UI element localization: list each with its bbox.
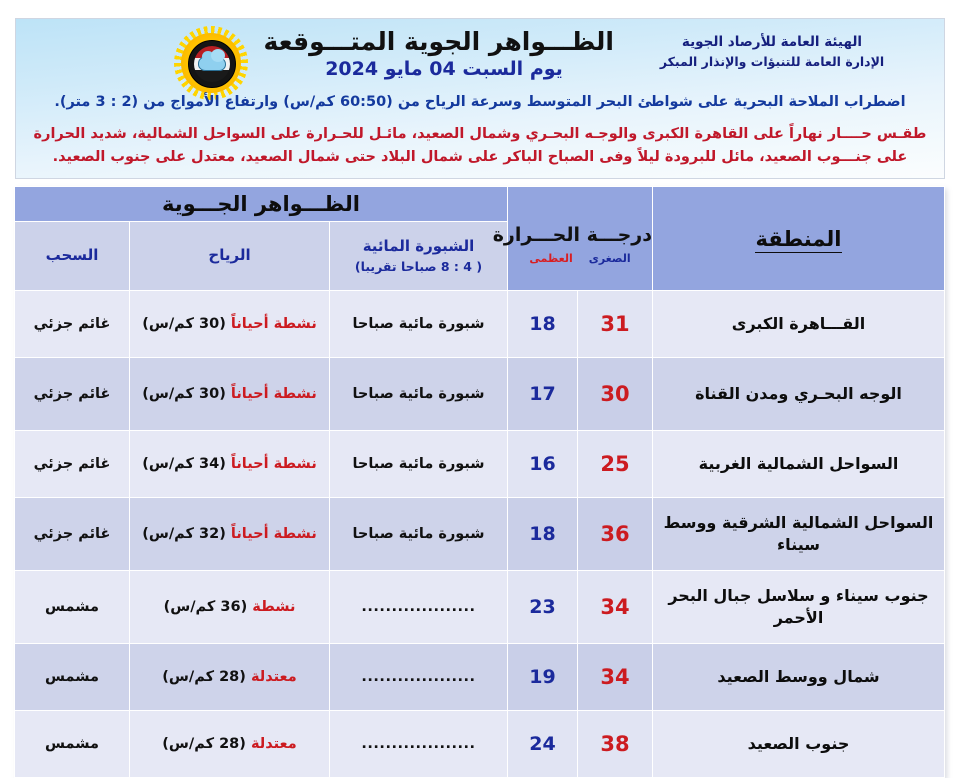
cell-min-temperature: 18 — [508, 291, 578, 358]
column-header-temperature-max: العظمى — [529, 252, 572, 265]
cell-wind: نشطة أحياناً (32 كم/س) — [130, 498, 330, 571]
table-body: القـــاهرة الكبرى3118شبورة مائية صباحانش… — [14, 291, 944, 778]
table-row: جنوب سيناء و سلاسل جبال البحر الأحمر3423… — [14, 571, 944, 644]
table-head: المنطقة درجـــة الحـــرارة الصغرى العظمى… — [14, 187, 944, 291]
wind-speed-value: (36 كم/س) — [164, 599, 248, 615]
cell-region: جنوب الصعيد — [653, 711, 945, 778]
table-row: القـــاهرة الكبرى3118شبورة مائية صباحانش… — [14, 291, 944, 358]
marine-warning-text: اضطراب الملاحة البحرية على شواطئ البحر ا… — [16, 93, 944, 113]
column-header-wind: الرياح — [130, 222, 330, 291]
column-header-region-label: المنطقة — [755, 227, 841, 253]
cell-min-temperature: 18 — [508, 498, 578, 571]
wind-strength-label: نشطة — [252, 599, 295, 615]
cell-region: جنوب سيناء و سلاسل جبال البحر الأحمر — [653, 571, 945, 644]
column-header-temperature-min: الصغرى — [589, 252, 631, 265]
cell-wind: نشطة أحياناً (34 كم/س) — [130, 431, 330, 498]
cell-fog: ................... — [330, 571, 508, 644]
wind-speed-value: (30 كم/س) — [142, 316, 226, 332]
table-row: السواحل الشمالية الغربية2516شبورة مائية … — [14, 431, 944, 498]
table-header-row-1: المنطقة درجـــة الحـــرارة الصغرى العظمى… — [14, 187, 944, 222]
temperature-sublabels: الصغرى العظمى — [508, 252, 652, 265]
cell-clouds: مشمس — [14, 571, 129, 644]
forecast-table-container: المنطقة درجـــة الحـــرارة الصغرى العظمى… — [15, 186, 945, 778]
cell-fog: ................... — [330, 711, 508, 778]
wind-speed-value: (28 كم/س) — [162, 669, 246, 685]
cell-fog: ................... — [330, 644, 508, 711]
cell-min-temperature: 17 — [508, 358, 578, 431]
column-header-fog: الشبورة المائية ( 4 : 8 صباحا تقريبا) — [330, 222, 508, 291]
cloud-icon — [198, 56, 226, 71]
cell-fog: شبورة مائية صباحا — [330, 431, 508, 498]
cell-region: شمال ووسط الصعيد — [653, 644, 945, 711]
cell-clouds: غائم جزئي — [14, 498, 129, 571]
cell-clouds: غائم جزئي — [14, 431, 129, 498]
cell-max-temperature: 25 — [578, 431, 653, 498]
table-row: شمال ووسط الصعيد3419...................م… — [14, 644, 944, 711]
wind-speed-value: (34 كم/س) — [142, 456, 226, 472]
cell-max-temperature: 34 — [578, 571, 653, 644]
cell-fog: شبورة مائية صباحا — [330, 498, 508, 571]
table-row: السواحل الشمالية الشرقية ووسط سيناء3618ش… — [14, 498, 944, 571]
cell-clouds: مشمس — [14, 644, 129, 711]
cell-clouds: غائم جزئي — [14, 358, 129, 431]
cell-max-temperature: 31 — [578, 291, 653, 358]
column-header-clouds: السحب — [14, 222, 129, 291]
column-header-phenomena-group: الظـــواهر الجـــوية — [14, 187, 507, 222]
wind-speed-value: (30 كم/س) — [142, 386, 226, 402]
column-header-fog-label: الشبورة المائية — [363, 237, 475, 255]
cell-clouds: مشمس — [14, 711, 129, 778]
cell-clouds: غائم جزئي — [14, 291, 129, 358]
cell-region: السواحل الشمالية الشرقية ووسط سيناء — [653, 498, 945, 571]
wind-speed-value: (32 كم/س) — [142, 526, 226, 542]
page-title: الظـــواهر الجوية المتـــوقعة — [274, 27, 614, 56]
wind-strength-label: نشطة أحياناً — [231, 526, 317, 542]
cell-max-temperature: 34 — [578, 644, 653, 711]
bulletin-header-banner: الهيئة العامة للأرصاد الجوية الإدارة الع… — [15, 18, 945, 179]
cell-min-temperature: 16 — [508, 431, 578, 498]
sun-logo-icon — [168, 28, 254, 98]
wind-strength-label: نشطة أحياناً — [231, 456, 317, 472]
column-header-temperature-label: درجـــة الحـــرارة — [508, 212, 652, 245]
cell-region: الوجه البحـري ومدن القناة — [653, 358, 945, 431]
wind-strength-label: نشطة أحياناً — [231, 386, 317, 402]
cell-max-temperature: 36 — [578, 498, 653, 571]
wind-strength-label: نشطة أحياناً — [231, 316, 317, 332]
wind-strength-label: معتدلة — [251, 669, 297, 685]
cell-wind: نشطة أحياناً (30 كم/س) — [130, 291, 330, 358]
cell-min-temperature: 24 — [508, 711, 578, 778]
wind-speed-value: (28 كم/س) — [162, 736, 246, 752]
cell-region: السواحل الشمالية الغربية — [653, 431, 945, 498]
cell-wind: معتدلة (28 كم/س) — [130, 644, 330, 711]
emblem-circle-icon — [188, 40, 236, 88]
bulletin-title-block: الظـــواهر الجوية المتـــوقعة يوم السبت … — [274, 27, 614, 81]
cell-fog: شبورة مائية صباحا — [330, 358, 508, 431]
cell-fog: شبورة مائية صباحا — [330, 291, 508, 358]
table-row: جنوب الصعيد3824...................معتدلة… — [14, 711, 944, 778]
bulletin-date: يوم السبت 04 مايو 2024 — [274, 59, 614, 81]
forecast-summary-text: طقـس حــــار نهاراً على القاهرة الكبرى و… — [16, 123, 944, 170]
cell-max-temperature: 30 — [578, 358, 653, 431]
authority-block: الهيئة العامة للأرصاد الجوية الإدارة الع… — [612, 33, 932, 71]
cell-wind: نشطة (36 كم/س) — [130, 571, 330, 644]
cell-wind: نشطة أحياناً (30 كم/س) — [130, 358, 330, 431]
cell-region: القـــاهرة الكبرى — [653, 291, 945, 358]
wind-strength-label: معتدلة — [251, 736, 297, 752]
column-header-temperature: درجـــة الحـــرارة الصغرى العظمى — [508, 187, 653, 291]
column-header-fog-note: ( 4 : 8 صباحا تقريبا) — [330, 259, 507, 275]
cell-min-temperature: 19 — [508, 644, 578, 711]
table-row: الوجه البحـري ومدن القناة3017شبورة مائية… — [14, 358, 944, 431]
cell-max-temperature: 38 — [578, 711, 653, 778]
column-header-region: المنطقة — [653, 187, 945, 291]
authority-name: الهيئة العامة للأرصاد الجوية — [612, 33, 932, 53]
weather-bulletin-page: الهيئة العامة للأرصاد الجوية الإدارة الع… — [0, 0, 960, 744]
cell-wind: معتدلة (28 كم/س) — [130, 711, 330, 778]
authority-department: الإدارة العامة للتنبؤات والإنذار المبكر — [612, 53, 932, 71]
cell-min-temperature: 23 — [508, 571, 578, 644]
forecast-table: المنطقة درجـــة الحـــرارة الصغرى العظمى… — [14, 186, 945, 778]
banner-top-row: الهيئة العامة للأرصاد الجوية الإدارة الع… — [16, 19, 944, 89]
